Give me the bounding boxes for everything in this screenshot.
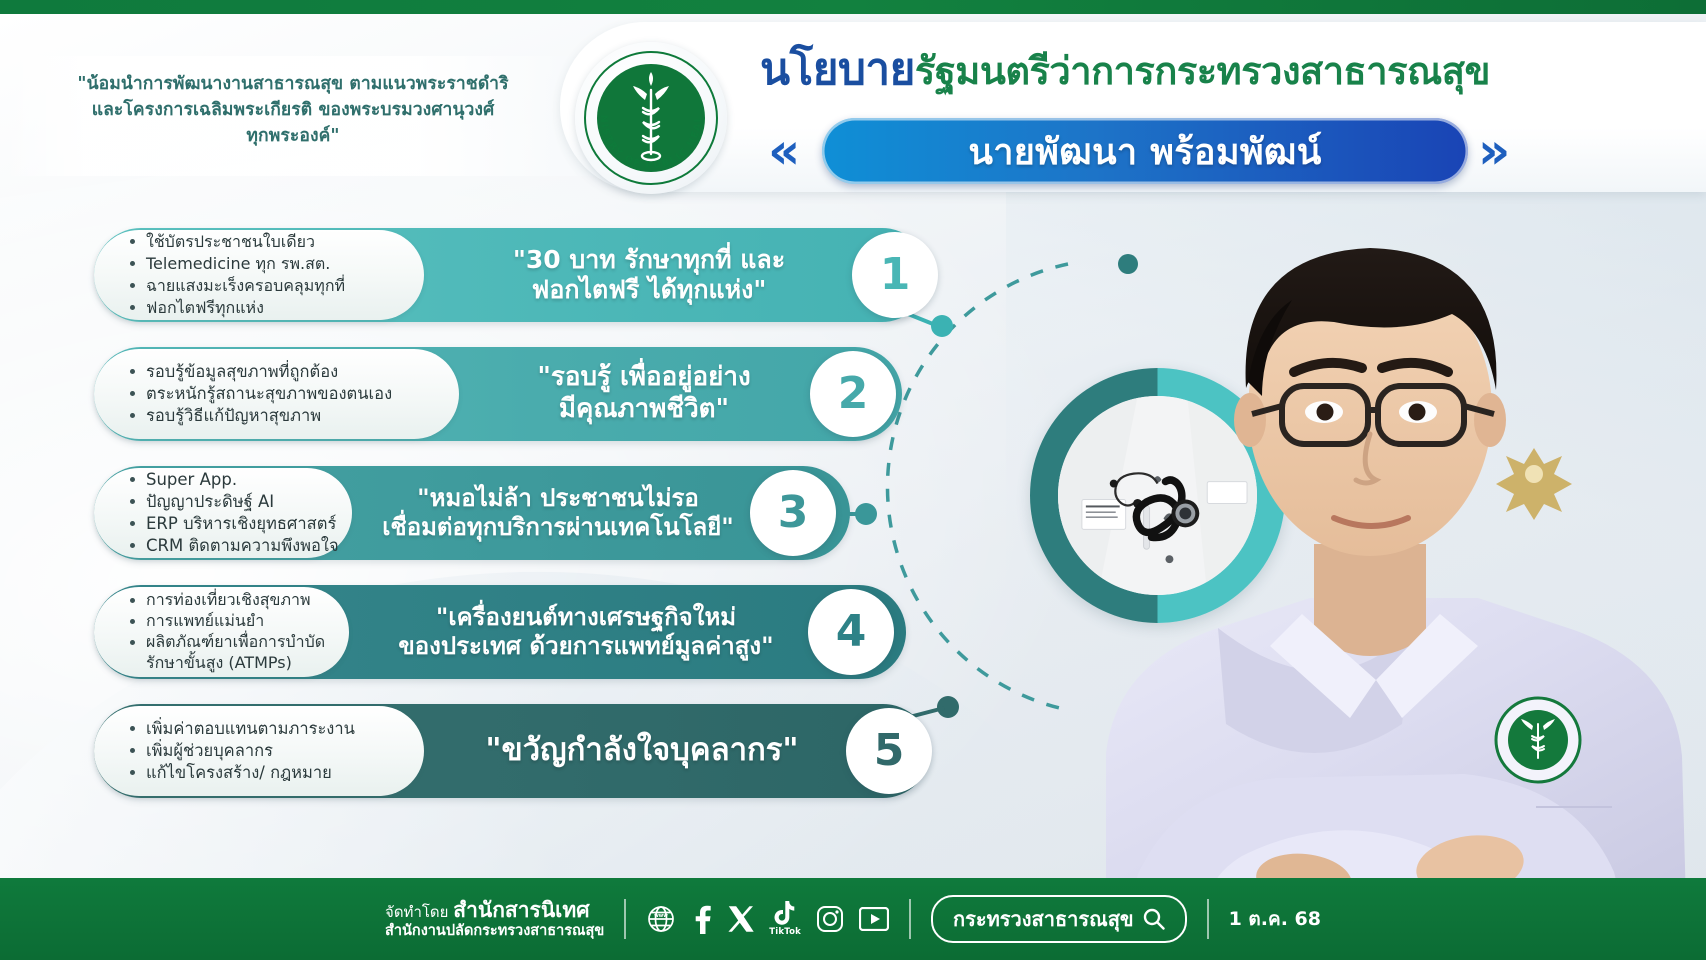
slogan-line: "เครื่องยนต์ทางเศรษฐกิจใหม่ xyxy=(436,603,736,632)
slogan-line: "30 บาท รักษาทุกที่ และ xyxy=(513,245,785,276)
bullet-item: ใช้บัตรประชาชนใบเดียว xyxy=(128,231,408,253)
bullet-text-continued: รักษาขั้นสูง (ATMPs) xyxy=(146,653,333,674)
slogan-line: ฟอกไตฟรี ได้ทุกแห่ง" xyxy=(532,275,767,306)
policy-number: 2 xyxy=(838,372,869,416)
policy-bullets-3: Super App. ปัญญาประดิษฐ์ AI ERP บริหารเช… xyxy=(94,468,352,558)
policy-slogan-3: "หมอไม่ล้า ประชาชนไม่รอ เชื่อมต่อทุกบริก… xyxy=(358,466,758,560)
policy-bullets-5: เพิ่มค่าตอบแทนตามภาระงาน เพิ่มผู้ช่วยบุค… xyxy=(94,706,424,796)
slogan-line: "หมอไม่ล้า ประชาชนไม่รอ xyxy=(417,484,699,513)
bullet-item: ปัญญาประดิษฐ์ AI xyxy=(128,491,336,513)
bullet-item: รอบรู้ข้อมูลสุขภาพที่ถูกต้อง xyxy=(128,361,443,383)
policy-number-badge-3: 3 xyxy=(750,470,836,556)
youtube-icon[interactable] xyxy=(859,907,889,931)
policy-number: 3 xyxy=(778,491,809,535)
policy-number-badge-2: 2 xyxy=(810,351,896,437)
bullet-item: การแพทย์แม่นยำ xyxy=(128,611,333,632)
footer-credit: จัดทำโดย สำนักสารนิเทศ สำนักงานปลัดกระทร… xyxy=(385,897,604,941)
bullet-item: รอบรู้วิธีแก้ปัญหาสุขภาพ xyxy=(128,405,443,427)
credit-prefix: จัดทำโดย xyxy=(385,903,448,921)
royal-quote-line-2: และโครงการเฉลิมพระเกียรติ ของพระบรมวงศาน… xyxy=(8,98,578,124)
bullet-item: Super App. xyxy=(128,469,336,491)
slogan-line: มีคุณภาพชีวิต" xyxy=(559,394,729,426)
policy-row-4[interactable]: การท่องเที่ยวเชิงสุขภาพ การแพทย์แม่นยำ ผ… xyxy=(94,585,906,679)
search-label: กระทรวงสาธารณสุข xyxy=(953,903,1134,935)
bullet-item: ERP บริหารเชิงยุทธศาสตร์ xyxy=(128,513,336,535)
policy-number-badge-1: 1 xyxy=(852,232,938,318)
policy-number: 4 xyxy=(836,610,867,654)
ministry-of-public-health-logo: กระทรวงสาธารณสุข MINISTRY OF PUBLIC HEAL… xyxy=(575,42,727,194)
chevron-left-icon: « xyxy=(768,126,800,176)
policy-row-5[interactable]: เพิ่มค่าตอบแทนตามภาระงาน เพิ่มผู้ช่วยบุค… xyxy=(94,704,930,798)
instagram-icon[interactable] xyxy=(816,905,844,933)
svg-text:www: www xyxy=(654,913,668,919)
policy-number: 1 xyxy=(880,253,911,297)
policy-number-badge-5: 5 xyxy=(846,708,932,794)
policy-number: 5 xyxy=(874,729,905,773)
footer-divider-2 xyxy=(909,899,911,939)
bullet-item: ตระหนักรู้สถานะสุขภาพของตนเอง xyxy=(128,383,443,405)
royal-quote: "น้อมนำการพัฒนางานสาธารณสุข ตามแนวพระราช… xyxy=(8,72,578,150)
tiktok-caption: TikTok xyxy=(769,927,801,937)
footer-divider-1 xyxy=(624,899,626,939)
slogan-line: "รอบรู้ เพื่ออยู่อย่าง xyxy=(537,362,750,394)
facebook-icon[interactable] xyxy=(691,904,713,934)
bullet-item: ฟอกไตฟรีทุกแห่ง xyxy=(128,297,408,319)
bullet-item: แก้ไขโครงสร้าง/ กฎหมาย xyxy=(128,762,408,784)
policy-number-badge-4: 4 xyxy=(808,589,894,675)
title-word-policy: นโยบาย xyxy=(760,44,915,95)
policy-slogan-2: "รอบรู้ เพื่ออยู่อย่าง มีคุณภาพชีวิต" xyxy=(466,347,822,441)
policy-bullets-4: การท่องเที่ยวเชิงสุขภาพ การแพทย์แม่นยำ ผ… xyxy=(94,587,349,677)
royal-quote-line-3: ทุกพระองค์" xyxy=(8,124,578,150)
credit-line-1: จัดทำโดย สำนักสารนิเทศ xyxy=(385,897,604,923)
top-accent-bar xyxy=(0,0,1706,14)
bullet-item: การท่องเที่ยวเชิงสุขภาพ xyxy=(128,590,333,611)
search-pill[interactable]: กระทรวงสาธารณสุข xyxy=(931,895,1187,943)
policy-bullets-1: ใช้บัตรประชาชนใบเดียว Telemedicine ทุก ร… xyxy=(94,230,424,320)
page-title: นโยบายรัฐมนตรีว่าการกระทรวงสาธารณสุข xyxy=(760,48,1490,92)
footer-divider-3 xyxy=(1207,899,1209,939)
svg-text:MINISTRY OF PUBLIC HEALTH: MINISTRY OF PUBLIC HEALTH xyxy=(575,42,704,171)
minister-portrait-photo xyxy=(1066,114,1706,904)
policy-slogan-4: "เครื่องยนต์ทางเศรษฐกิจใหม่ ของประเทศ ด้… xyxy=(356,585,816,679)
credit-line-2: สำนักงานปลัดกระทรวงสาธารณสุข xyxy=(385,923,604,941)
credit-org: สำนักสารนิเทศ xyxy=(453,898,589,922)
title-word-minister: รัฐมนตรีว่าการกระทรวงสาธารณสุข xyxy=(915,49,1490,93)
x-twitter-icon[interactable] xyxy=(728,905,754,933)
social-links: www TikTok xyxy=(646,901,889,937)
publish-date: 1 ต.ค. 68 xyxy=(1229,904,1321,934)
slogan-line: ของประเทศ ด้วยการแพทย์มูลค่าสูง" xyxy=(398,632,773,661)
policy-slogan-1: "30 บาท รักษาทุกที่ และ ฟอกไตฟรี ได้ทุกแ… xyxy=(434,228,864,322)
slogan-line: "ขวัญกำลังใจบุคลากร" xyxy=(485,732,798,770)
portrait-illustration xyxy=(1066,114,1706,904)
policy-row-3[interactable]: Super App. ปัญญาประดิษฐ์ AI ERP บริหารเช… xyxy=(94,466,850,560)
slogan-line: เชื่อมต่อทุกบริการผ่านเทคโนโลยี" xyxy=(382,513,734,542)
bullet-item: ฉายแสงมะเร็งครอบคลุมทุกที่ xyxy=(128,275,408,297)
website-icon[interactable]: www xyxy=(646,904,676,934)
royal-quote-line-1: "น้อมนำการพัฒนางานสาธารณสุข ตามแนวพระราช… xyxy=(8,72,578,98)
bullet-item: ผลิตภัณฑ์ยาเพื่อการบำบัด รักษาขั้นสูง (A… xyxy=(128,632,333,674)
bullet-text: ผลิตภัณฑ์ยาเพื่อการบำบัด xyxy=(146,632,325,651)
bullet-item: เพิ่มค่าตอบแทนตามภาระงาน xyxy=(128,718,408,740)
policy-row-2[interactable]: รอบรู้ข้อมูลสุขภาพที่ถูกต้อง ตระหนักรู้ส… xyxy=(94,347,902,441)
search-icon xyxy=(1143,908,1165,930)
bullet-item: CRM ติดตามความพึงพอใจ xyxy=(128,535,336,557)
policy-bullets-2: รอบรู้ข้อมูลสุขภาพที่ถูกต้อง ตระหนักรู้ส… xyxy=(94,349,459,439)
tiktok-icon[interactable]: TikTok xyxy=(769,901,801,937)
policy-row-1[interactable]: ใช้บัตรประชาชนใบเดียว Telemedicine ทุก ร… xyxy=(94,228,929,322)
bullet-item: เพิ่มผู้ช่วยบุคลากร xyxy=(128,740,408,762)
footer-bar: จัดทำโดย สำนักสารนิเทศ สำนักงานปลัดกระทร… xyxy=(0,878,1706,960)
bullet-item: Telemedicine ทุก รพ.สต. xyxy=(128,253,408,275)
caduceus-icon: กระทรวงสาธารณสุข MINISTRY OF PUBLIC HEAL… xyxy=(575,42,727,194)
policy-slogan-5: "ขวัญกำลังใจบุคลากร" xyxy=(432,704,852,798)
